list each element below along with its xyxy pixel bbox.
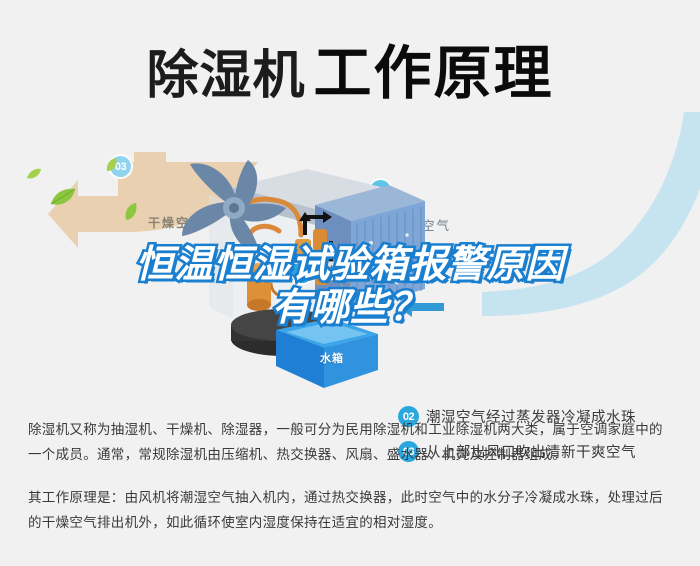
page-root: 除湿机工作原理 潮湿空气 01 干燥空气 03 [0,0,700,566]
body-paragraph-1: 除湿机又称为抽湿机、干燥机、除湿器，一般可分为民用除湿机和工业除湿机两大类，属于… [28,418,676,468]
badge-02-heat-exchanger: 02 [292,262,313,283]
leaf-icon-2 [50,188,76,206]
body-copy: 除湿机又称为抽湿机、干燥机、除湿器，一般可分为民用除湿机和工业除湿机两大类，属于… [28,418,676,554]
callout-tail-icon [338,278,354,298]
leaf-icon-4 [106,158,118,172]
leaf-icon-1 [26,168,42,180]
title-part-1: 除湿机 [146,46,305,106]
humid-air-swoosh-icon [418,110,700,360]
page-title: 除湿机工作原理 [0,26,700,110]
fan-icon [178,158,288,258]
dehumidifier-illustration: 潮湿空气 01 干燥空气 03 [0,118,700,403]
water-tank-label: 水箱 [320,350,344,366]
body-paragraph-2: 其工作原理是：由风机将潮湿空气抽入机内，通过热交换器，此时空气中的水分子冷凝成水… [28,486,676,536]
title-part-2: 工作原理 [314,39,554,107]
leaf-icon-3 [124,203,138,221]
